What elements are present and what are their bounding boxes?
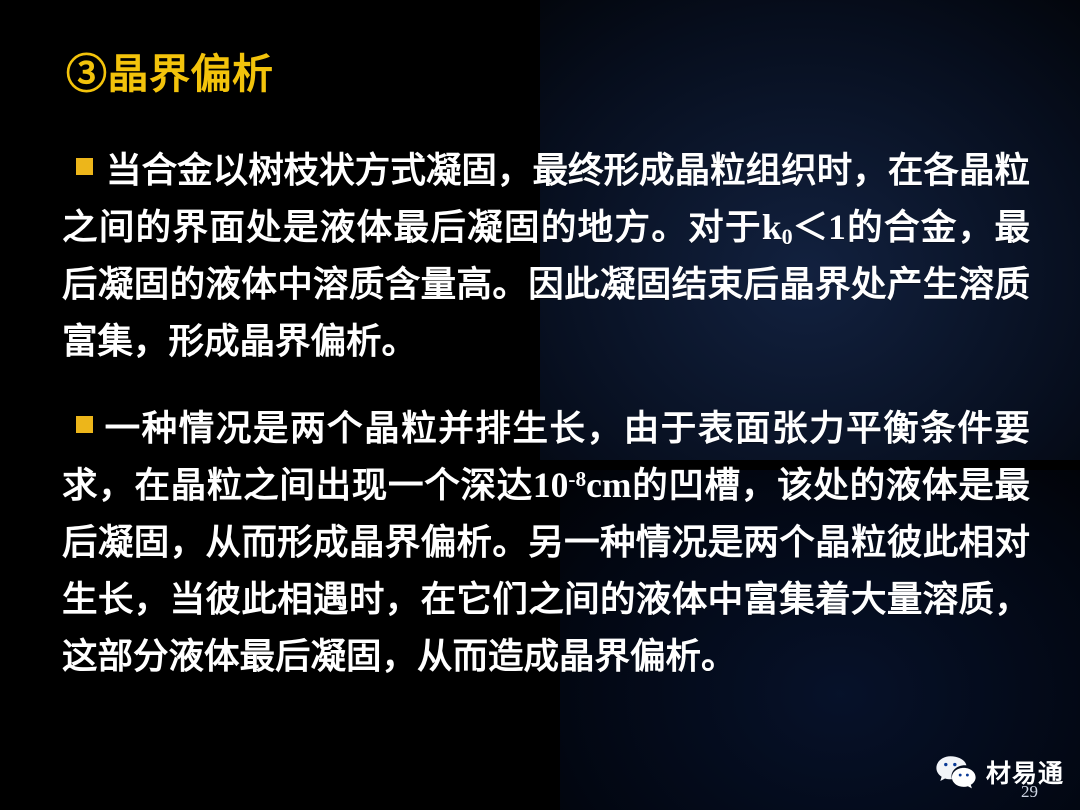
slide-title: ③晶界偏析 xyxy=(66,52,274,97)
bullet-paragraph-1: 当合金以树枝状方式凝固，最终形成晶粒组织时，在各晶粒之间的界面处是液体最后凝固的… xyxy=(62,142,1030,370)
square-bullet-icon xyxy=(76,416,93,433)
square-bullet-icon xyxy=(76,158,93,175)
bullet-paragraph-2: 一种情况是两个晶粒并排生长，由于表面张力平衡条件要求，在晶粒之间出现一个深达10… xyxy=(62,400,1030,685)
page-number: 29 xyxy=(1021,782,1038,802)
paragraph-2-superscript: -8 xyxy=(568,467,586,491)
wechat-icon xyxy=(935,755,977,789)
presentation-slide: ③晶界偏析 当合金以树枝状方式凝固，最终形成晶粒组织时，在各晶粒之间的界面处是液… xyxy=(0,0,1080,810)
slide-body: 当合金以树枝状方式凝固，最终形成晶粒组织时，在各晶粒之间的界面处是液体最后凝固的… xyxy=(62,142,1030,685)
watermark: 材易通 xyxy=(935,754,1064,790)
paragraph-1-subscript: 0 xyxy=(782,224,793,249)
